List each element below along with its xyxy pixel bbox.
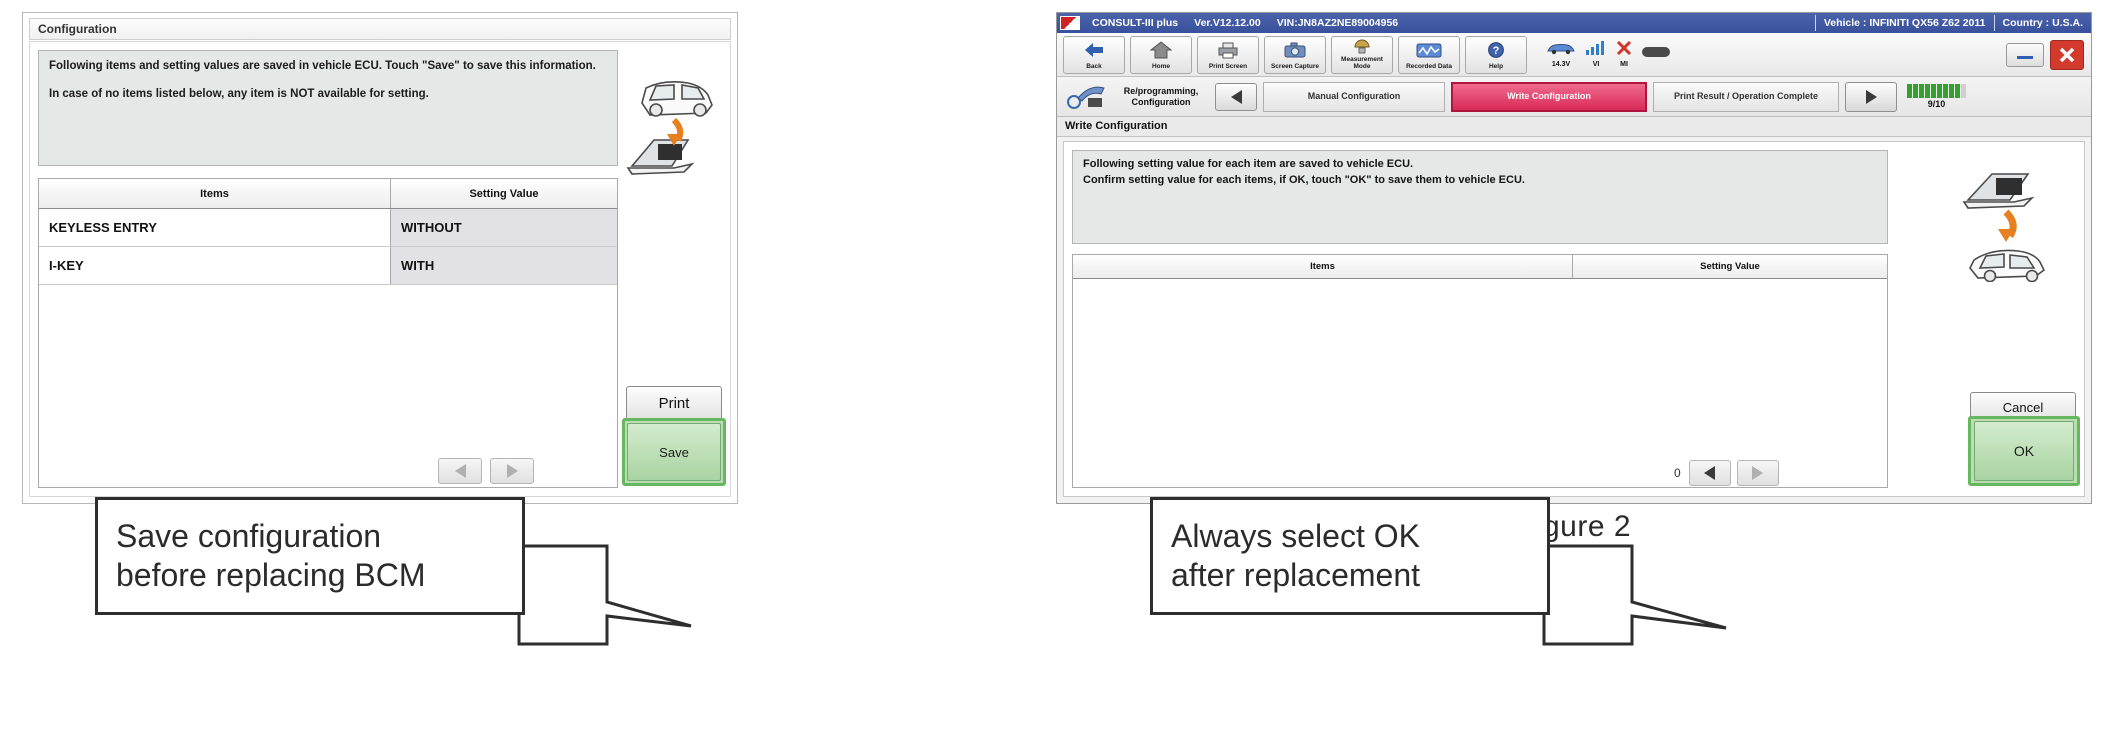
table-row[interactable]: I-KEY WITH: [39, 247, 617, 285]
save-button-highlight: Save: [622, 418, 726, 486]
write-configuration-panel: Following setting value for each item ar…: [1063, 141, 2085, 497]
printer-icon: [1216, 37, 1240, 64]
progress-segment: [1931, 84, 1936, 98]
instruction-message-box: Following setting value for each item ar…: [1072, 150, 1888, 244]
chevron-left-icon: [1231, 90, 1242, 104]
back-arrow-icon: [1083, 37, 1105, 64]
signal-bars-icon: [1585, 41, 1607, 60]
figure-2-write-configuration-screen: CONSULT-III plus Ver.V12.12.00 VIN:JN8AZ…: [1056, 12, 2092, 504]
vehicle-display: Vehicle : INFINITI QX56 Z62 2011: [1816, 17, 1994, 29]
workflow-step-write-configuration[interactable]: Write Configuration: [1451, 82, 1647, 112]
previous-page-button[interactable]: [1689, 460, 1731, 486]
toolbar-label: Screen Capture: [1271, 64, 1319, 71]
instruction-line-1: Following setting value for each item ar…: [1083, 158, 1877, 170]
callout-always-select-ok: Always select OK after replacement: [1150, 497, 1550, 615]
toolbar-label: Print Screen: [1209, 64, 1247, 71]
chevron-left-icon: [1704, 466, 1715, 480]
cell-item-name: KEYLESS ENTRY: [39, 209, 391, 246]
window-title: Configuration: [29, 18, 731, 40]
toolbar-button-measurement-mode[interactable]: Measurement Mode: [1331, 36, 1393, 74]
instruction-message-box: Following items and setting values are s…: [38, 50, 618, 166]
laptop-vehicle-illustration: [1950, 164, 2070, 282]
status-indicator-group: 14.3V VI MI: [1546, 41, 1671, 68]
instruction-line-2: Confirm setting value for each items, if…: [1083, 174, 1877, 186]
callout-line-1: Always select OK: [1171, 517, 1529, 556]
callout-line-2: before replacing BCM: [116, 556, 504, 595]
progress-segment: [1961, 84, 1966, 98]
chevron-right-icon: [507, 464, 518, 478]
instruction-line-1: Following items and setting values are s…: [49, 59, 607, 73]
car-icon: [1546, 41, 1576, 60]
toolbar-label: Measurement Mode: [1332, 57, 1392, 71]
progress-segment: [1925, 84, 1930, 98]
ok-button[interactable]: OK: [1974, 421, 2074, 481]
toolbar-label: Back: [1086, 64, 1102, 71]
country-display: Country : U.S.A.: [1995, 17, 2092, 29]
home-icon: [1150, 37, 1172, 64]
question-icon: ?: [1487, 37, 1505, 64]
workflow-mode-line-1: Re/programming,: [1124, 86, 1199, 96]
progress-text: 9/10: [1928, 99, 1946, 109]
status-label: 14.3V: [1552, 61, 1570, 68]
toolbar-button-home[interactable]: Home: [1130, 36, 1192, 74]
progress-segment: [1949, 84, 1954, 98]
camera-icon: [1283, 37, 1307, 64]
next-page-button[interactable]: [1737, 460, 1779, 486]
next-page-button[interactable]: [490, 458, 534, 484]
table-header-row: Items Setting Value: [1073, 255, 1887, 279]
callout-2-pointer: [1540, 540, 1740, 650]
figure-1-configuration-screen: Configuration Following items and settin…: [22, 12, 738, 504]
column-header-items: Items: [1073, 255, 1573, 278]
status-battery-voltage: 14.3V: [1546, 41, 1576, 68]
toolbar-button-back[interactable]: Back: [1063, 36, 1125, 74]
toolbar-button-screen-capture[interactable]: Screen Capture: [1264, 36, 1326, 74]
pagination-controls: [438, 458, 534, 484]
close-button[interactable]: [2050, 40, 2084, 70]
progress-segment: [1937, 84, 1942, 98]
table-header-row: Items Setting Value: [39, 179, 617, 209]
configuration-table: Items Setting Value: [1072, 254, 1888, 488]
app-name: CONSULT-III plus: [1084, 17, 1186, 29]
svg-text:?: ?: [1493, 45, 1500, 57]
progress-segment: [1943, 84, 1948, 98]
column-header-setting-value: Setting Value: [391, 179, 617, 208]
cell-item-name: I-KEY: [39, 247, 391, 284]
pagination-controls: 0: [1674, 460, 1779, 486]
minimize-button[interactable]: [2006, 43, 2044, 67]
reprogramming-icon: [1063, 81, 1107, 113]
configuration-window: Configuration Following items and settin…: [22, 12, 738, 504]
ok-button-highlight: OK: [1968, 416, 2080, 486]
progress-segment: [1907, 84, 1912, 98]
progress-segment: [1955, 84, 1960, 98]
toolbar-label: Home: [1152, 64, 1170, 71]
screen-subheader: Write Configuration: [1057, 117, 2091, 137]
toolbar-button-print-screen[interactable]: Print Screen: [1197, 36, 1259, 74]
callout-save-configuration: Save configuration before replacing BCM: [95, 497, 525, 615]
consult-iii-plus-window: CONSULT-III plus Ver.V12.12.00 VIN:JN8AZ…: [1056, 12, 2092, 504]
progress-segment: [1919, 84, 1924, 98]
callout-line-1: Save configuration: [116, 517, 504, 556]
main-toolbar: Back Home Print Screen Screen Capture: [1057, 33, 2091, 77]
chevron-right-icon: [1752, 466, 1763, 480]
callout-1-pointer: [515, 540, 705, 650]
workflow-progress-indicator: 9/10: [1907, 84, 1966, 109]
status-vehicle-interface: VI: [1585, 41, 1607, 68]
cell-setting-value: WITHOUT: [391, 209, 617, 246]
app-version: Ver.V12.12.00: [1186, 17, 1269, 29]
gauge-icon: [1352, 37, 1372, 57]
table-row[interactable]: KEYLESS ENTRY WITHOUT: [39, 209, 617, 247]
column-header-items: Items: [39, 179, 391, 208]
status-measurement-interface: MI: [1616, 41, 1632, 68]
workflow-previous-button[interactable]: [1215, 83, 1257, 111]
progress-segment: [1913, 84, 1918, 98]
configuration-table: Items Setting Value KEYLESS ENTRY WITHOU…: [38, 178, 618, 488]
toolbar-label: Recorded Data: [1406, 64, 1452, 71]
workflow-step-print-result[interactable]: Print Result / Operation Complete: [1653, 82, 1839, 112]
waveform-icon: [1416, 37, 1442, 64]
toolbar-label: Help: [1489, 64, 1503, 71]
cell-setting-value: WITH: [391, 247, 617, 284]
instruction-line-2: In case of no items listed below, any it…: [49, 87, 607, 101]
consult-logo-icon: [1060, 16, 1080, 30]
progress-bar: [1907, 84, 1966, 98]
chevron-right-icon: [1866, 90, 1877, 104]
workflow-step-manual-configuration[interactable]: Manual Configuration: [1263, 82, 1445, 112]
vin-display: VIN:JN8AZ2NE89004956: [1269, 17, 1406, 29]
workflow-breadcrumb-bar: Re/programming, Configuration Manual Con…: [1057, 77, 2091, 117]
callout-line-2: after replacement: [1171, 556, 1529, 595]
window-controls: [2006, 40, 2084, 70]
window-body: Following items and setting values are s…: [29, 41, 731, 497]
application-title-bar: CONSULT-III plus Ver.V12.12.00 VIN:JN8AZ…: [1057, 13, 2091, 33]
workflow-mode-line-2: Configuration: [1132, 97, 1191, 107]
column-header-setting-value: Setting Value: [1573, 255, 1887, 278]
print-button[interactable]: Print: [626, 386, 722, 420]
chevron-left-icon: [455, 464, 466, 478]
vi-device-icon: [1641, 44, 1671, 65]
toolbar-button-help[interactable]: ? Help: [1465, 36, 1527, 74]
save-button[interactable]: Save: [627, 423, 721, 481]
workflow-mode-label: Re/programming, Configuration: [1113, 86, 1209, 107]
previous-page-button[interactable]: [438, 458, 482, 484]
status-label: MI: [1620, 61, 1628, 68]
laptop-vehicle-illustration: [616, 70, 726, 190]
x-mark-icon: [1616, 41, 1632, 60]
status-label: VI: [1593, 61, 1600, 68]
toolbar-button-recorded-data[interactable]: Recorded Data: [1398, 36, 1460, 74]
page-indicator: 0: [1674, 466, 1681, 480]
workflow-next-button[interactable]: [1845, 82, 1897, 112]
